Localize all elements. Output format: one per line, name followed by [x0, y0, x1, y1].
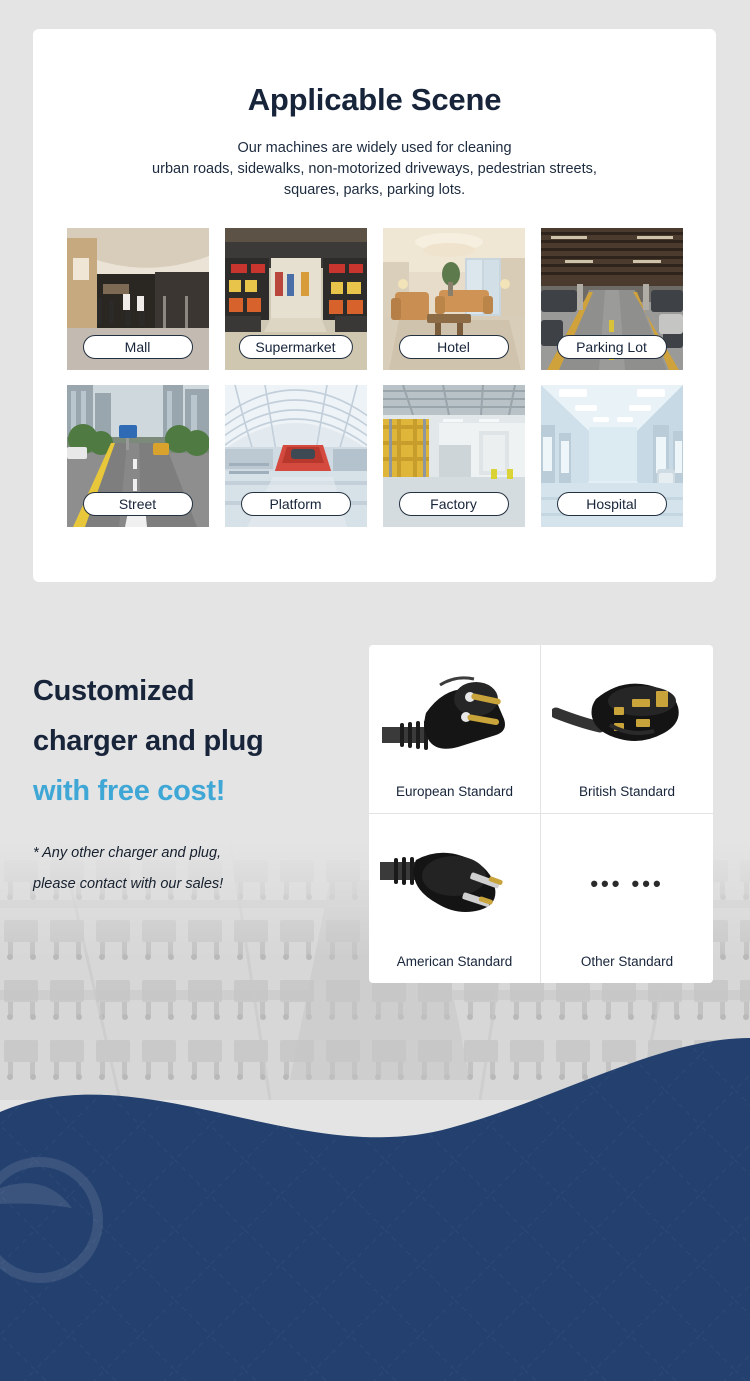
applicable-scene-card: Applicable Scene Our machines are widely… — [33, 29, 716, 582]
plug-label-american: American Standard — [397, 954, 513, 969]
scene-item-hotel[interactable]: Hotel — [383, 228, 525, 370]
british-plug-icon — [541, 645, 713, 784]
plug-cell-british: British Standard — [541, 645, 713, 814]
scene-label-hospital: Hospital — [557, 492, 667, 516]
european-plug-icon — [369, 645, 540, 784]
scene-item-mall[interactable]: Mall — [67, 228, 209, 370]
scene-item-parking-lot[interactable]: Parking Lot — [541, 228, 683, 370]
charger-heading-line-2: charger and plug — [33, 716, 363, 766]
scene-label-street: Street — [83, 492, 193, 516]
scene-subtitle-line-2: urban roads, sidewalks, non-motorized dr… — [63, 159, 686, 180]
scene-subtitle: Our machines are widely used for cleanin… — [33, 138, 716, 201]
scene-label-hotel: Hotel — [399, 335, 509, 359]
scene-subtitle-line-1: Our machines are widely used for cleanin… — [63, 138, 686, 159]
scene-subtitle-line-3: squares, parks, parking lots. — [63, 180, 686, 201]
plug-label-european: European Standard — [396, 784, 513, 799]
scene-item-street[interactable]: Street — [67, 385, 209, 527]
scene-label-parking-lot: Parking Lot — [557, 335, 667, 359]
plug-standards-panel: European Standard British Standard — [369, 645, 713, 983]
plug-cell-other: ••• ••• Other Standard — [541, 814, 713, 983]
footer-content — [0, 1020, 750, 1381]
charger-heading-line-1: Customized — [33, 666, 363, 716]
charger-note-line-2: please contact with our sales! — [33, 869, 363, 900]
scene-grid: Mall — [33, 228, 716, 527]
scene-label-factory: Factory — [399, 492, 509, 516]
ellipsis-icon: ••• ••• — [541, 814, 713, 954]
charger-note-line-1: * Any other charger and plug, — [33, 838, 363, 869]
american-plug-icon — [369, 814, 540, 954]
page-title: Applicable Scene — [33, 82, 716, 118]
plug-label-british: British Standard — [579, 784, 675, 799]
plug-cell-european: European Standard — [369, 645, 541, 814]
scene-item-platform[interactable]: Platform — [225, 385, 367, 527]
scene-item-supermarket[interactable]: Supermarket — [225, 228, 367, 370]
scene-item-factory[interactable]: Factory — [383, 385, 525, 527]
plug-label-other: Other Standard — [581, 954, 673, 969]
scene-label-mall: Mall — [83, 335, 193, 359]
plug-cell-american: American Standard — [369, 814, 541, 983]
charger-heading-block: Customized charger and plug with free co… — [33, 666, 363, 900]
scene-item-hospital[interactable]: Hospital — [541, 385, 683, 527]
charger-heading-line-3: with free cost! — [33, 766, 363, 816]
ellipsis-text: ••• ••• — [590, 871, 663, 897]
charger-note: * Any other charger and plug, please con… — [33, 838, 363, 900]
scene-label-supermarket: Supermarket — [238, 335, 352, 359]
scene-label-platform: Platform — [241, 492, 351, 516]
